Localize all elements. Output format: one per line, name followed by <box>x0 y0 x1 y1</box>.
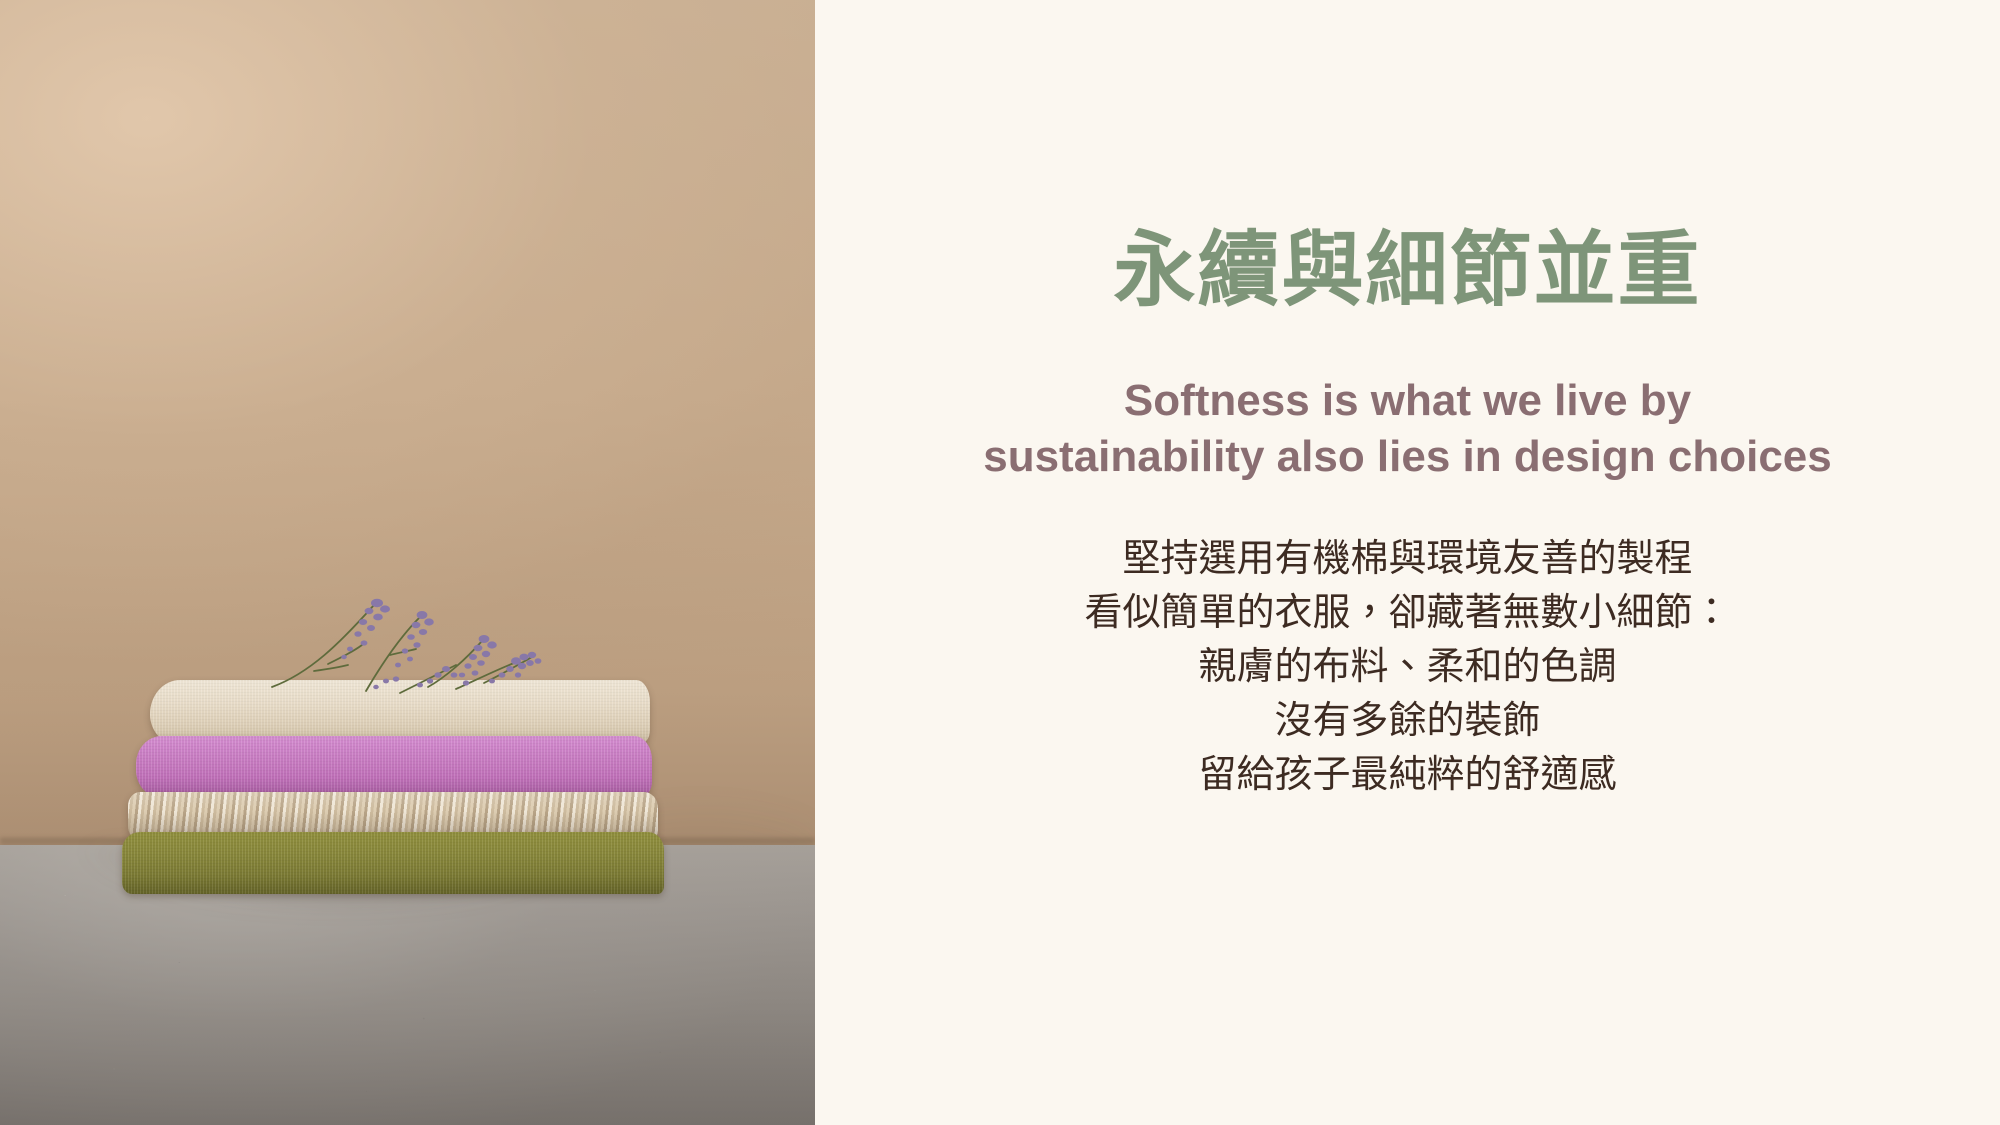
body-line-1: 堅持選用有機棉與環境友善的製程 <box>1084 533 1730 587</box>
slide-root: 永續與細節並重 Softness is what we live by sust… <box>0 0 2000 1125</box>
text-panel: 永續與細節並重 Softness is what we live by sust… <box>815 0 2000 1125</box>
subtitle-block: Softness is what we live by sustainabili… <box>983 373 1832 486</box>
body-line-4: 沒有多餘的裝飾 <box>1084 695 1730 749</box>
body-line-2: 看似簡單的衣服，卻藏著無數小細節： <box>1084 587 1730 641</box>
body-copy-block: 堅持選用有機棉與環境友善的製程 看似簡單的衣服，卻藏著無數小細節： 親膚的布料、… <box>1084 533 1730 803</box>
subtitle-line-1: Softness is what we live by <box>983 373 1832 429</box>
folded-clothes-stack <box>128 680 668 870</box>
body-line-5: 留給孩子最純粹的舒適感 <box>1084 749 1730 803</box>
dried-statice-sprig <box>270 595 560 700</box>
body-line-3: 親膚的布料、柔和的色調 <box>1084 641 1730 695</box>
photo-panel <box>0 0 815 1125</box>
subtitle-line-2: sustainability also lies in design choic… <box>983 429 1832 485</box>
orchid-knit-fold <box>136 736 652 798</box>
page-title: 永續與細節並重 <box>1113 225 1701 317</box>
olive-knit-fold <box>122 832 664 894</box>
